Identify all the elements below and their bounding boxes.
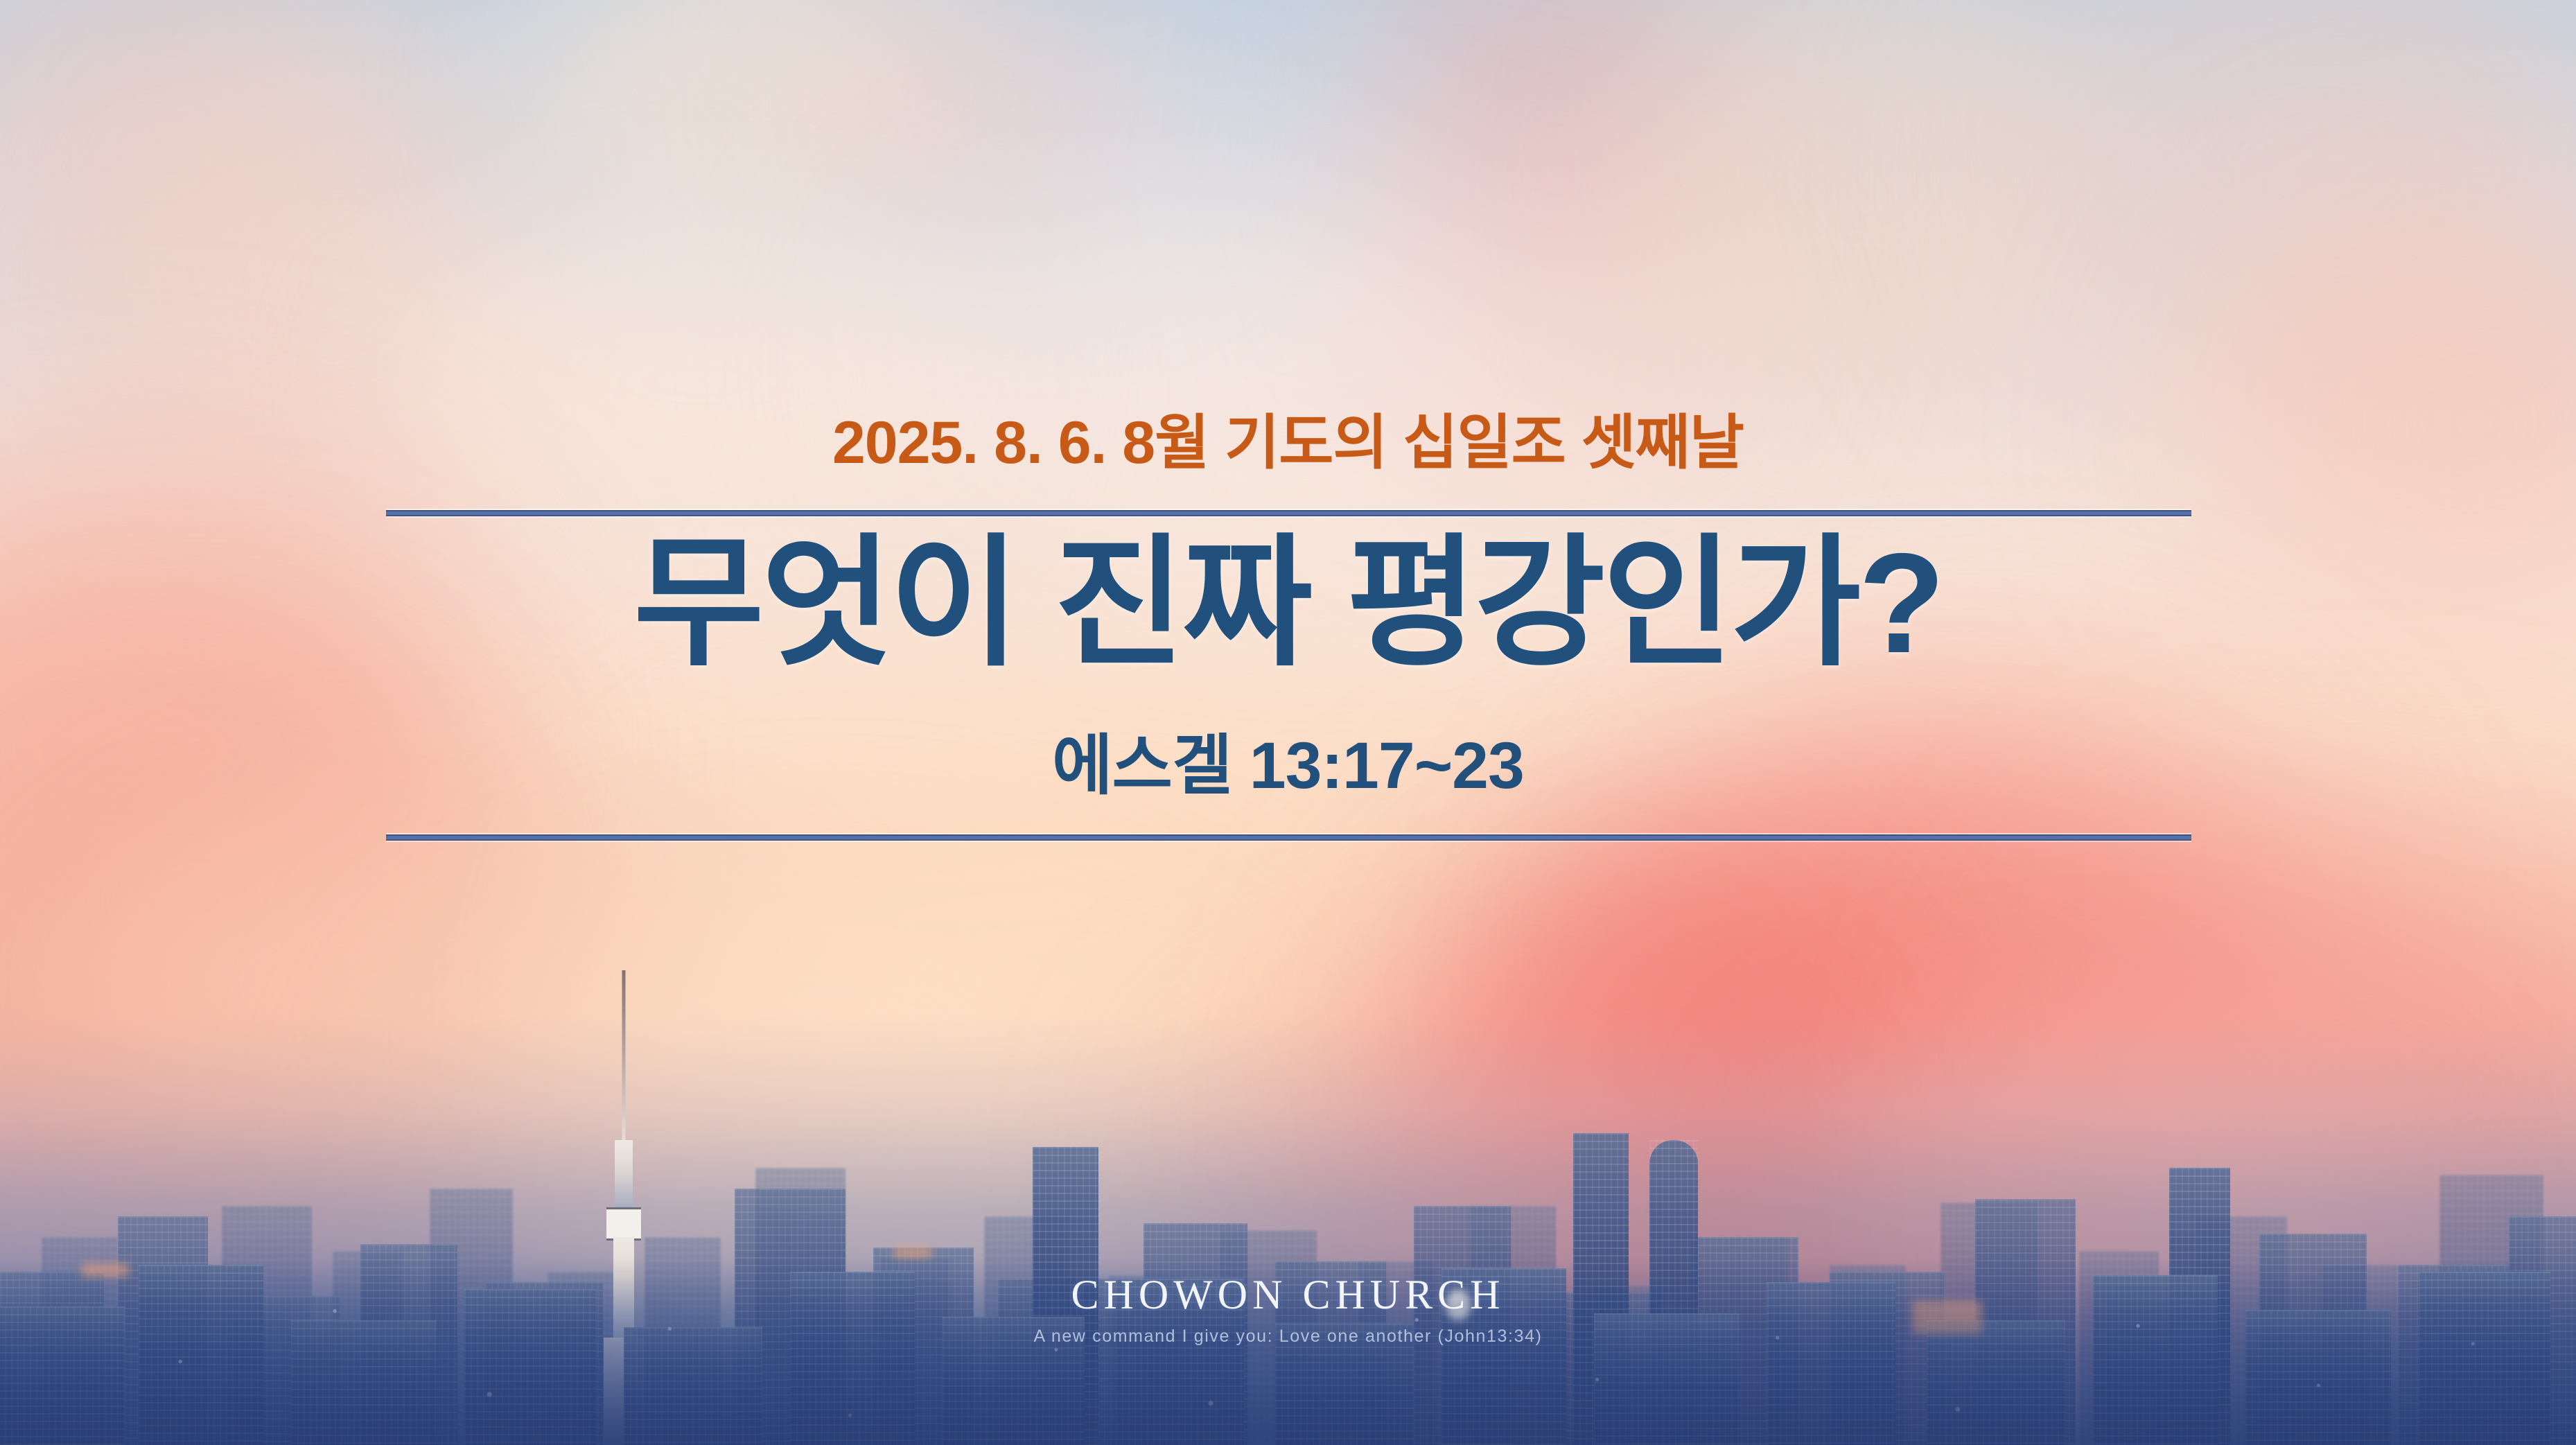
scripture-reference: 에스겔 13:17~23 bbox=[0, 712, 2576, 807]
building bbox=[2093, 1275, 2218, 1445]
tower-observation-deck bbox=[606, 1207, 641, 1241]
slide-text-content: 2025. 8. 6. 8월 기도의 십일조 셋째날 무엇이 진짜 평강인가? … bbox=[0, 0, 2576, 901]
building-accent-light bbox=[1446, 1290, 1471, 1320]
building bbox=[790, 1272, 915, 1445]
tower-shaft bbox=[615, 1140, 633, 1216]
building bbox=[1116, 1279, 1244, 1445]
building bbox=[624, 1327, 762, 1445]
building bbox=[1275, 1324, 1414, 1445]
building bbox=[943, 1317, 1085, 1445]
building bbox=[1927, 1320, 2065, 1445]
building bbox=[139, 1265, 263, 1445]
city-skyline bbox=[0, 1057, 2576, 1445]
tower-spire bbox=[622, 970, 626, 1147]
building-accent-light bbox=[894, 1247, 931, 1258]
divider-line-bottom bbox=[386, 833, 2191, 842]
building bbox=[2419, 1272, 2550, 1445]
sermon-slide: 2025. 8. 6. 8월 기도의 십일조 셋째날 무엇이 진짜 평강인가? … bbox=[0, 0, 2576, 1445]
building bbox=[1767, 1282, 1895, 1445]
building bbox=[1594, 1313, 1740, 1445]
date-and-series-line: 2025. 8. 6. 8월 기도의 십일조 셋째날 bbox=[0, 394, 2576, 480]
divider-line-top bbox=[386, 509, 2191, 518]
tower-shaft-lower bbox=[613, 1237, 634, 1341]
building bbox=[464, 1289, 596, 1445]
building bbox=[2245, 1310, 2391, 1445]
building bbox=[291, 1320, 437, 1445]
page-title: 무엇이 진짜 평강인가? bbox=[0, 531, 2576, 676]
building bbox=[0, 1306, 125, 1445]
building-accent-light bbox=[82, 1263, 129, 1277]
building-accent-light bbox=[1913, 1301, 1982, 1334]
